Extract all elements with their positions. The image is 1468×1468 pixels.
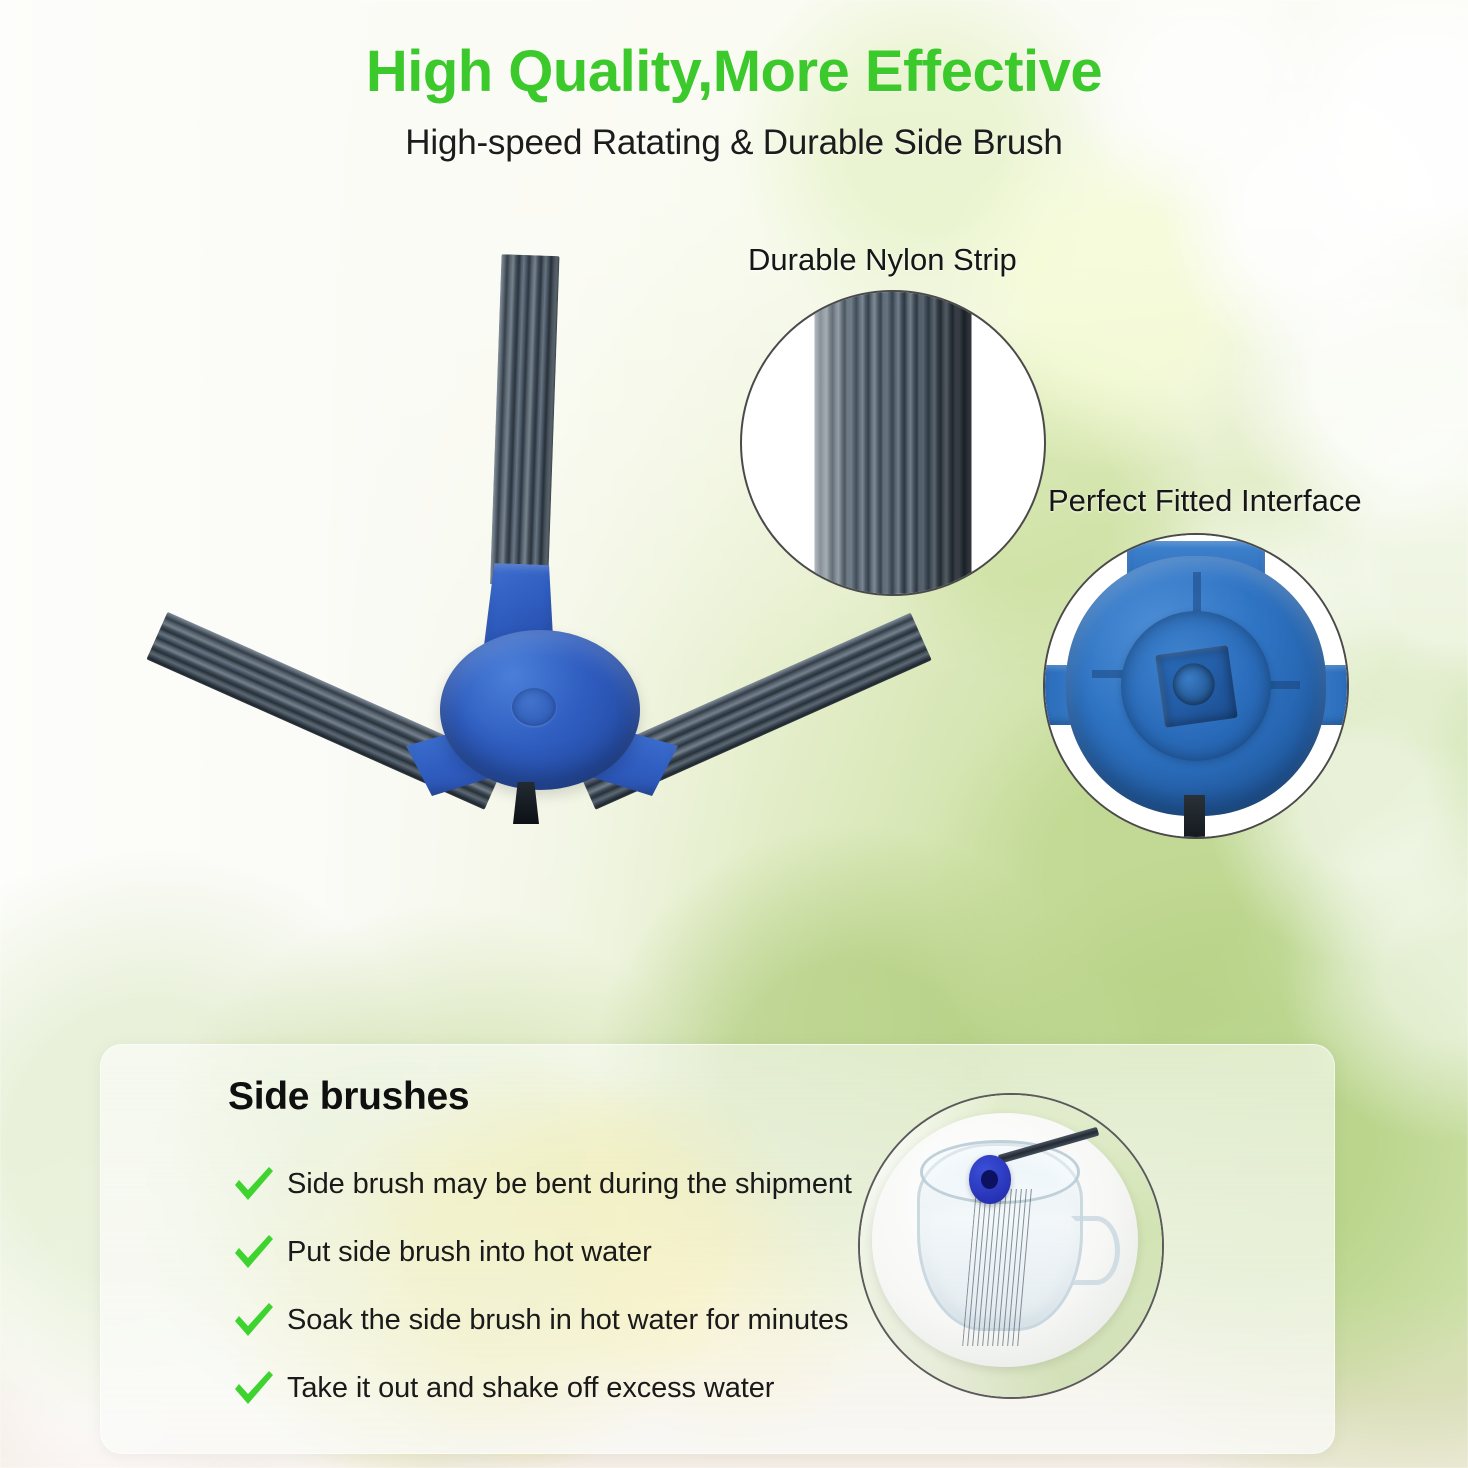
interface-blue-disc [1066, 556, 1326, 816]
brush-soaking-in-cup-photo [858, 1093, 1164, 1399]
panel-title: Side brushes [228, 1075, 469, 1119]
check-icon [229, 1160, 277, 1208]
callout-label-durable-nylon-strip: Durable Nylon Strip [748, 242, 1017, 278]
cup-brush-hub [969, 1155, 1011, 1203]
page-subtitle: High-speed Ratating & Durable Side Brush [0, 123, 1468, 163]
list-item-label: Soak the side brush in hot water for min… [287, 1304, 848, 1337]
check-icon [229, 1296, 277, 1344]
cup-handle [1071, 1216, 1119, 1285]
header: High Quality,More Effective High-speed R… [0, 42, 1468, 163]
interface-bottom-bristle [1184, 795, 1205, 839]
check-icon [229, 1228, 277, 1276]
list-item-label: Put side brush into hot water [287, 1236, 652, 1269]
list-item-label: Take it out and shake off excess water [287, 1372, 774, 1405]
nylon-strip-closeup-circle [740, 290, 1046, 596]
interface-square-socket [1155, 645, 1237, 727]
list-item-label: Side brush may be bent during the shipme… [287, 1168, 852, 1201]
nylon-bristle-texture [814, 290, 971, 596]
page-title: High Quality,More Effective [0, 42, 1468, 103]
check-icon [229, 1364, 277, 1412]
fitted-interface-closeup-circle [1043, 533, 1349, 839]
callout-label-perfect-fitted-interface: Perfect Fitted Interface [1048, 483, 1362, 519]
